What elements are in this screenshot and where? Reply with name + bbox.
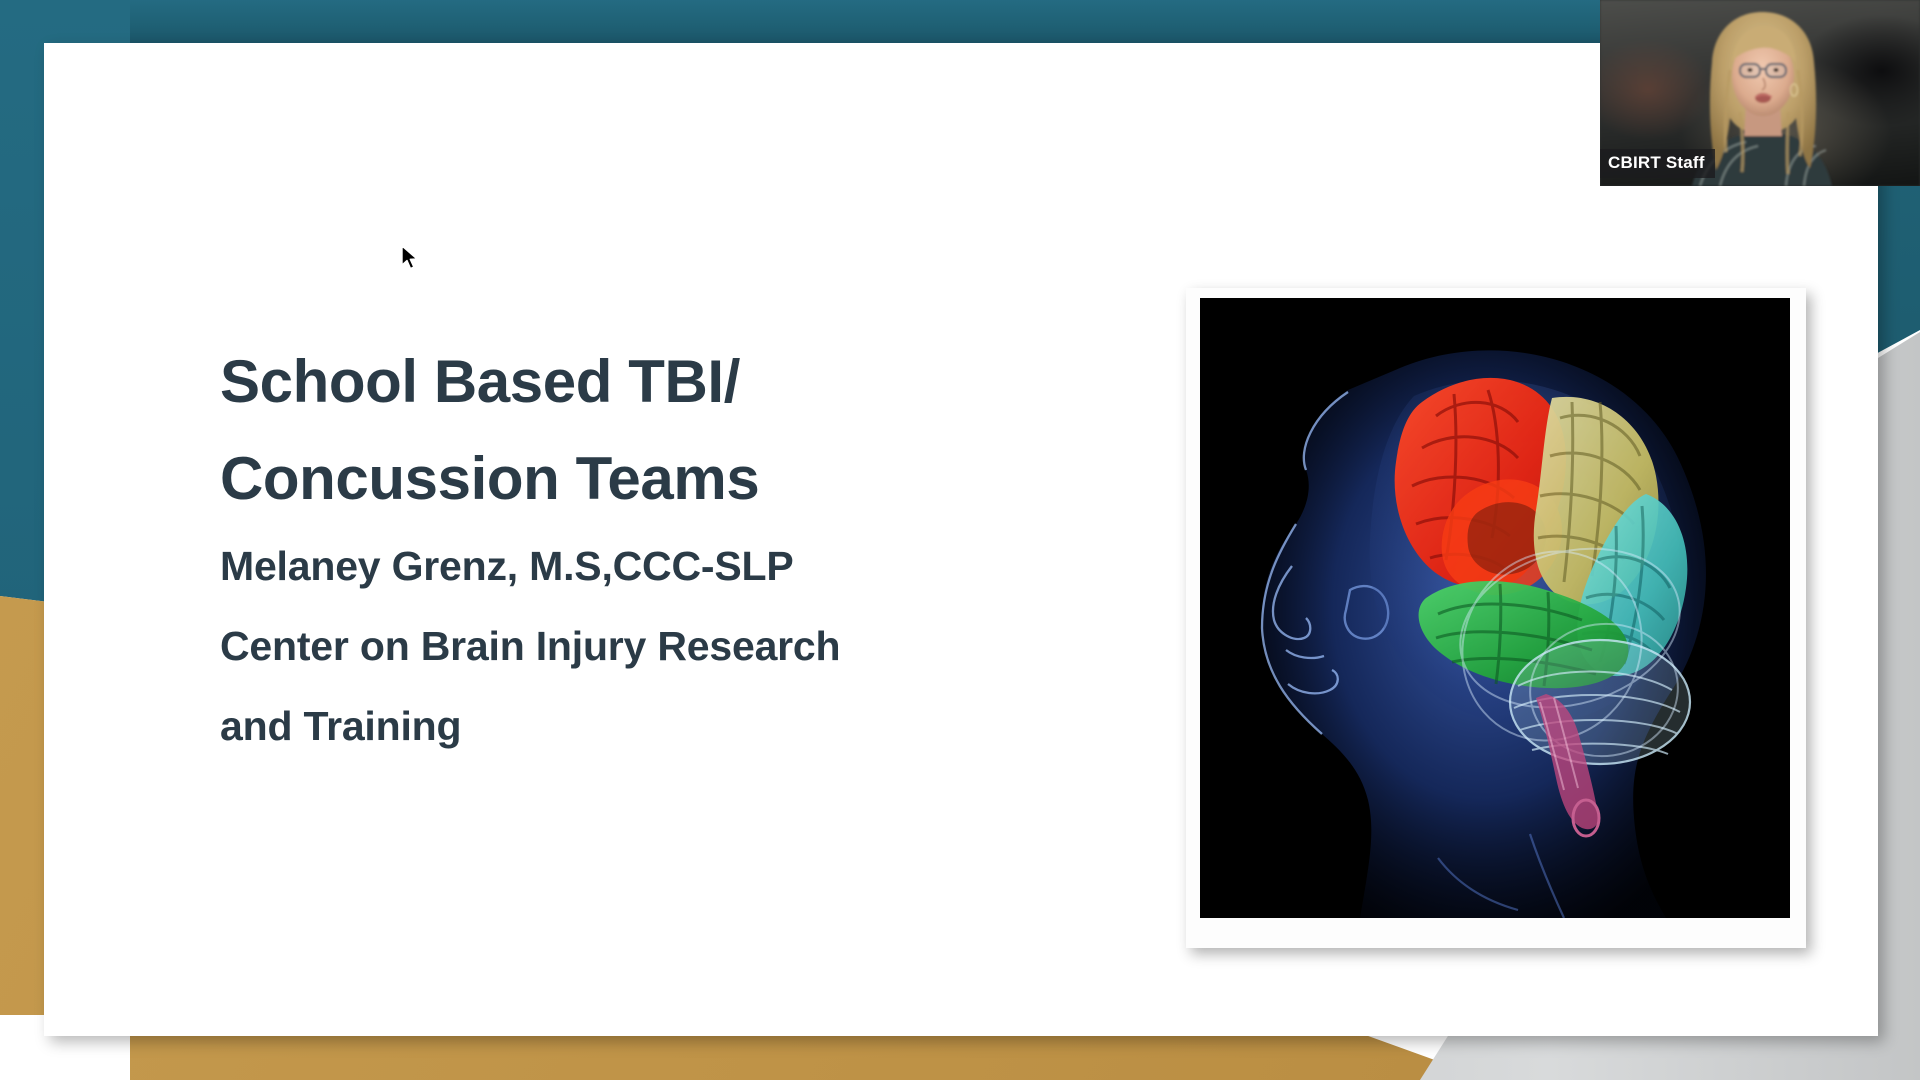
slide-title-line-1: School Based TBI/ [220,333,1060,430]
slide-title-line-2: Concussion Teams [220,430,1060,527]
slide-subtitle-line-2: Center on Brain Injury Research [220,607,1060,687]
screen-root: School Based TBI/ Concussion Teams Melan… [0,0,1920,1080]
slide-text-block: School Based TBI/ Concussion Teams Melan… [220,333,1060,767]
slide-subtitle-line-3: and Training [220,687,1060,767]
webcam-overlay[interactable]: CBIRT Staff [1600,0,1920,186]
webcam-participant-label: CBIRT Staff [1600,149,1715,178]
brain-image-frame [1186,288,1806,948]
slide-subtitle-line-1: Melaney Grenz, M.S,CCC-SLP [220,527,1060,607]
brain-anatomy-image [1200,298,1790,918]
slide-card: School Based TBI/ Concussion Teams Melan… [44,43,1878,1036]
